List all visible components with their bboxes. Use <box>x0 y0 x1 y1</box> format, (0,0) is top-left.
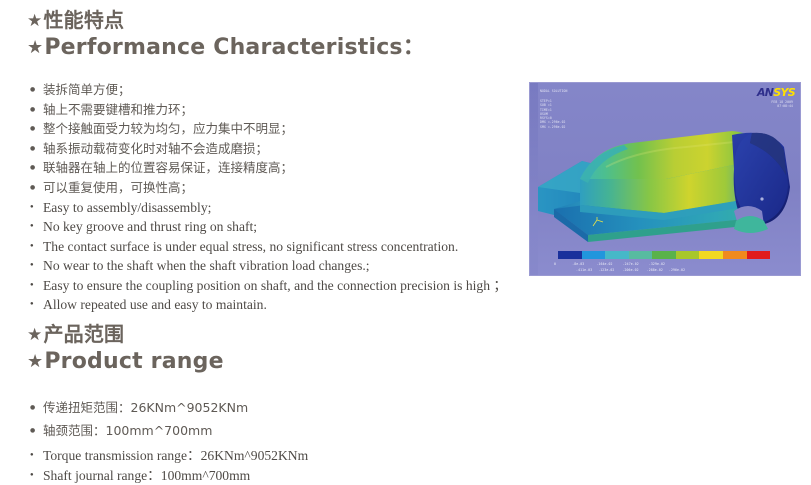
shaft-coupling-stress-model <box>536 125 798 243</box>
list-item: 可以重复使用，可换性高； <box>30 178 293 198</box>
product-range-heading-cn-text: 产品范围 <box>43 322 124 346</box>
legend-swatch <box>676 251 700 259</box>
ansys-fea-image: ANSYS NODAL SOLUTION STEP=1 SUB =1 TIME=… <box>529 82 801 276</box>
performance-heading-cn: ★性能特点 <box>27 8 425 34</box>
list-item: 装拆简单方便； <box>30 80 293 100</box>
list-item: 轴系振动载荷变化时对轴不会造成磨损； <box>30 139 293 159</box>
fea-title-text: NODAL SOLUTION <box>540 89 567 93</box>
legend-labels-upper: 0 .8e-03 .164e-02 .247e-02 .329e-02 <box>554 262 665 266</box>
performance-bullets-en: Easy to assembly/disassembly; No key gro… <box>30 198 507 314</box>
list-item: Torque transmission range：26KNm^9052KNm <box>30 446 308 466</box>
coordinate-triad-icon <box>592 214 606 224</box>
ansys-logo-sys: SYS <box>773 86 795 99</box>
performance-heading-cn-text: 性能特点 <box>43 8 124 32</box>
performance-heading-en-text: Performance Characteristics： <box>44 35 425 60</box>
stress-color-legend <box>558 251 770 259</box>
list-item: 传递扭矩范围：26KNm^9052KNm <box>30 396 248 419</box>
list-item: 轴颈范围：100mm^700mm <box>30 419 248 442</box>
fea-date-stamp: FEB 18 2009 07:08:44 <box>771 100 793 109</box>
product-range-heading-block: ★产品范围 ★Product range <box>27 322 224 376</box>
legend-swatch <box>652 251 676 259</box>
legend-swatch <box>699 251 723 259</box>
legend-swatch <box>629 251 653 259</box>
legend-swatch <box>747 251 771 259</box>
fea-plot-area: ANSYS NODAL SOLUTION STEP=1 SUB =1 TIME=… <box>530 83 800 275</box>
star-icon: ★ <box>27 351 43 372</box>
legend-swatch <box>605 251 629 259</box>
legend-labels-lower: .411e-03 .123e-02 .206e-02 .288e-02 .296… <box>570 268 685 272</box>
ansys-logo: ANSYS <box>757 87 795 98</box>
list-item: Easy to ensure the coupling position on … <box>30 276 507 295</box>
list-item: 整个接触面受力较为均匀，应力集中不明显； <box>30 119 293 139</box>
ansys-logo-an: AN <box>757 86 773 99</box>
legend-swatch <box>723 251 747 259</box>
legend-swatch <box>582 251 606 259</box>
product-range-bullets-en: Torque transmission range：26KNm^9052KNm … <box>30 446 308 485</box>
product-range-bullets-cn: 传递扭矩范围：26KNm^9052KNm 轴颈范围：100mm^700mm <box>30 396 248 442</box>
star-icon: ★ <box>27 325 42 345</box>
performance-bullets-cn: 装拆简单方便； 轴上不需要键槽和推力环； 整个接触面受力较为均匀，应力集中不明显… <box>30 80 293 198</box>
list-item: No key groove and thrust ring on shaft; <box>30 217 507 236</box>
performance-heading-block: ★性能特点 ★Performance Characteristics： <box>27 8 425 62</box>
page-root: ★性能特点 ★Performance Characteristics： 装拆简单… <box>0 0 811 477</box>
list-item: No wear to the shaft when the shaft vibr… <box>30 256 507 275</box>
legend-swatch <box>558 251 582 259</box>
list-item: Allow repeated use and easy to maintain. <box>30 295 507 314</box>
list-item: The contact surface is under equal stres… <box>30 237 507 256</box>
performance-heading-en: ★Performance Characteristics： <box>27 34 425 62</box>
star-icon: ★ <box>27 37 43 58</box>
star-icon: ★ <box>27 11 42 31</box>
product-range-heading-cn: ★产品范围 <box>27 322 224 348</box>
list-item: 联轴器在轴上的位置容易保证，连接精度高； <box>30 158 293 178</box>
list-item: Easy to assembly/disassembly; <box>30 198 507 217</box>
list-item: 轴上不需要键槽和推力环； <box>30 100 293 120</box>
product-range-heading-en-text: Product range <box>44 349 223 374</box>
product-range-heading-en: ★Product range <box>27 348 224 376</box>
list-item: Shaft journal range：100mm^700mm <box>30 466 308 485</box>
